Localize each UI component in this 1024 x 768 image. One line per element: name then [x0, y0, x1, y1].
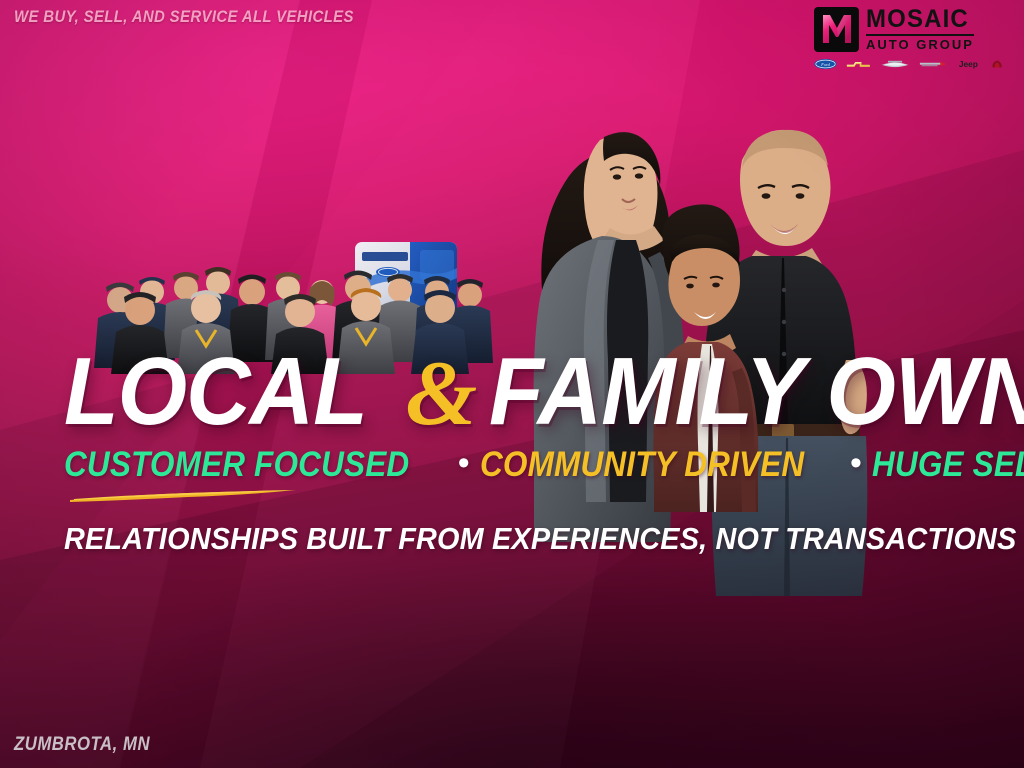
promotional-banner: WE BUY, SELL, AND SERVICE ALL VEHICLES	[0, 0, 1024, 768]
chrysler-logo	[880, 58, 910, 70]
headline: LOCAL & FAMILY OWNED	[64, 344, 1024, 440]
location-label: ZUMBROTA, MN	[14, 734, 150, 756]
subhead: CUSTOMER FOCUSED • COMMUNITY DRIVEN • HU…	[64, 447, 1024, 482]
subhead-separator-1: •	[458, 446, 470, 480]
dodge-logo	[990, 58, 1004, 70]
top-tagline: WE BUY, SELL, AND SERVICE ALL VEHICLES	[14, 7, 354, 27]
chevrolet-logo	[846, 58, 871, 70]
brand-logo-strip: Ford Jeep	[814, 56, 1006, 72]
ford-logo: Ford	[814, 58, 837, 70]
headline-word-family-owned: FAMILY OWNED	[489, 344, 1024, 440]
logo-subtitle: AUTO GROUP	[866, 38, 974, 51]
mosaic-auto-group-logo[interactable]: MOSAIC AUTO GROUP Ford	[814, 6, 1006, 72]
gold-brush-divider	[68, 487, 298, 503]
svg-text:Ford: Ford	[820, 62, 830, 67]
headline-ampersand: &	[406, 347, 478, 439]
tagline: RELATIONSHIPS BUILT FROM EXPERIENCES, NO…	[64, 521, 1016, 557]
subhead-community-driven: COMMUNITY DRIVEN	[480, 447, 804, 482]
logo-row: MOSAIC AUTO GROUP	[814, 6, 1006, 52]
subhead-huge-selection: HUGE SELECTION	[872, 447, 1024, 482]
logo-divider	[866, 34, 974, 36]
headline-word-local: LOCAL	[64, 344, 367, 440]
mosaic-m-icon	[814, 7, 859, 52]
logo-wordmark: MOSAIC AUTO GROUP	[866, 7, 974, 51]
lincoln-logo	[919, 58, 947, 70]
jeep-logo: Jeep	[956, 58, 981, 70]
svg-text:Jeep: Jeep	[959, 59, 978, 69]
subhead-separator-2: •	[850, 446, 862, 480]
subhead-customer-focused: CUSTOMER FOCUSED	[64, 447, 409, 482]
logo-name: MOSAIC	[866, 7, 970, 32]
